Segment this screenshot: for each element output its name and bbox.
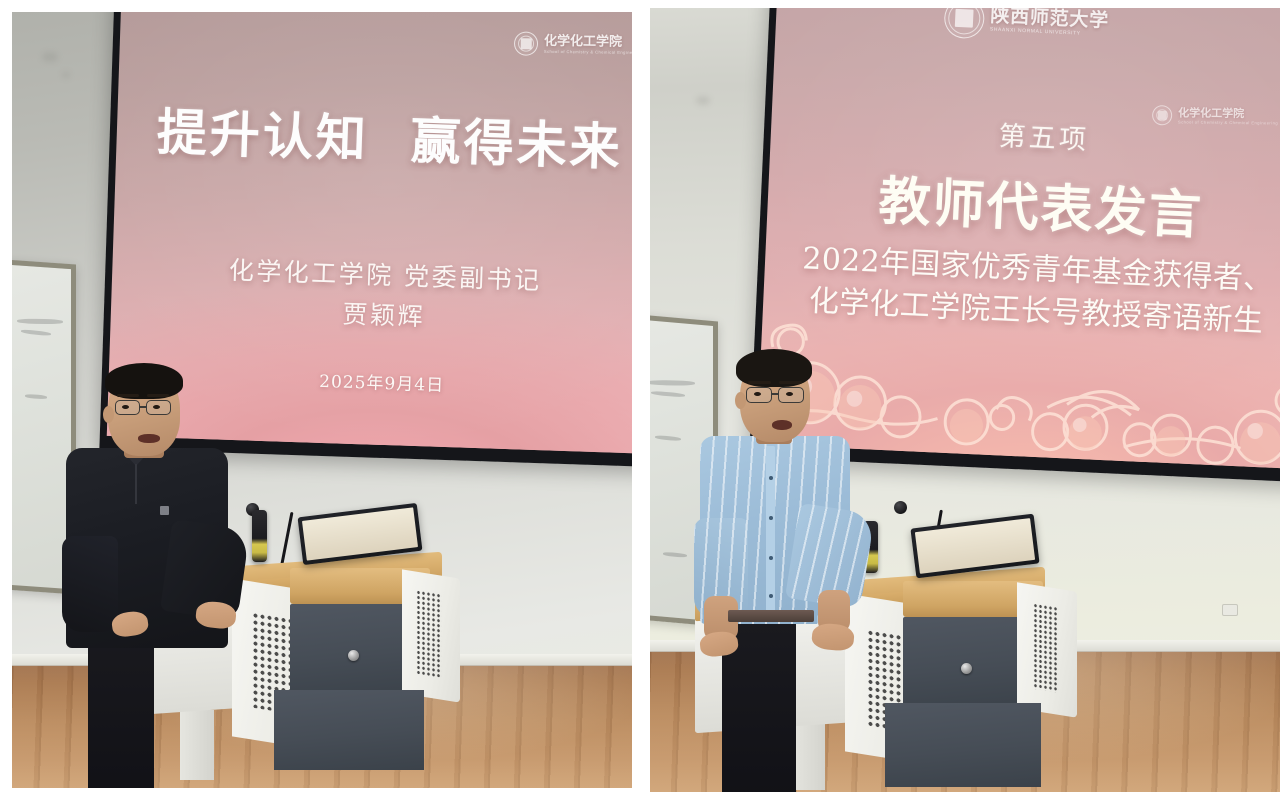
shirt-button xyxy=(769,556,773,560)
slide-title-part1: 提升认知 xyxy=(156,102,370,168)
speaker-grille xyxy=(1033,603,1059,693)
speaker-grille xyxy=(416,590,442,678)
wall-smudge xyxy=(696,96,710,105)
whiteboard-writing xyxy=(655,435,681,441)
podium-right-side-panel xyxy=(402,569,460,702)
speaker-person xyxy=(70,364,300,788)
speaker-eye xyxy=(786,392,793,396)
slide-title-part2: 赢得未来 xyxy=(410,111,624,177)
whiteboard-writing xyxy=(663,552,687,558)
college-wordmark: 化学化工学院 School of Chemistry & Chemical En… xyxy=(544,34,632,54)
speaker-head xyxy=(108,368,180,456)
wall-outlet[interactable] xyxy=(1222,604,1238,616)
shirt-button xyxy=(769,476,773,480)
shirt-placket xyxy=(135,464,137,504)
speaker-mouth xyxy=(772,420,792,430)
photo-collage: 提升认知赢得未来 化学化工学院 党委副书记 贾颖辉 2025年9月4日 化学化工… xyxy=(0,0,1280,800)
slide-title: 提升认知赢得未来 xyxy=(116,103,632,176)
university-logo: 陕西师范大学 SHAANXI NORMAL UNIVERSITY xyxy=(943,8,1109,45)
college-seal-icon xyxy=(514,31,538,55)
college-name-en: School of Chemistry & Chemical Engineeri… xyxy=(544,49,632,54)
speaker-brow xyxy=(147,394,169,397)
whiteboard-writing xyxy=(25,394,47,400)
college-logo: 化学化工学院 School of Chemistry & Chemical En… xyxy=(1152,105,1278,126)
college-name-en: School of Chemistry & Chemical Engineeri… xyxy=(1178,120,1278,125)
university-seal-icon xyxy=(943,8,985,39)
speaker-eye xyxy=(153,405,160,409)
podium-right-side-panel xyxy=(1017,582,1077,718)
collage-panel-left: 提升认知赢得未来 化学化工学院 党委副书记 贾颖辉 2025年9月4日 化学化工… xyxy=(12,12,632,788)
podium-lock-icon[interactable] xyxy=(961,663,972,674)
eyeglasses-bridge xyxy=(140,406,146,408)
podium-monitor-screen xyxy=(302,507,418,560)
podium-lock-icon[interactable] xyxy=(348,650,359,661)
shirt-placket xyxy=(766,446,775,614)
speaker-eye xyxy=(754,392,761,396)
speaker-person xyxy=(700,358,940,792)
speaker-eye xyxy=(122,405,129,409)
whiteboard-writing xyxy=(651,391,685,398)
collage-panel-right: 第五项 教师代表发言 2022年国家优秀青年基金获得者、 化学化工学院王长号教授… xyxy=(650,8,1280,792)
speaker-ear xyxy=(735,392,746,409)
speaker-ear xyxy=(103,406,114,423)
whiteboard-writing xyxy=(650,380,695,386)
speaker-brow xyxy=(779,381,802,384)
eyeglasses-bridge xyxy=(772,393,778,395)
college-name-cn: 化学化工学院 xyxy=(544,34,632,48)
shirt-logo-icon xyxy=(160,506,169,515)
wall-smudge xyxy=(42,52,58,62)
shirt-button xyxy=(769,594,773,598)
college-name-cn: 化学化工学院 xyxy=(1178,107,1278,119)
college-wordmark: 化学化工学院 School of Chemistry & Chemical En… xyxy=(1178,107,1278,125)
speaker-mouth xyxy=(138,434,160,443)
speaker-brow xyxy=(117,394,139,397)
speaker-brow xyxy=(748,381,771,384)
whiteboard-writing xyxy=(17,319,63,325)
wall-smudge xyxy=(62,72,70,78)
university-wordmark: 陕西师范大学 SHAANXI NORMAL UNIVERSITY xyxy=(990,8,1110,38)
speaker-belt xyxy=(728,610,814,622)
shirt-button xyxy=(769,516,773,520)
college-logo: 化学化工学院 School of Chemistry & Chemical En… xyxy=(514,31,632,57)
speaker-head xyxy=(740,356,810,442)
speaker-left-arm xyxy=(62,536,118,632)
college-seal-icon xyxy=(1152,105,1172,125)
whiteboard-writing xyxy=(21,329,51,336)
